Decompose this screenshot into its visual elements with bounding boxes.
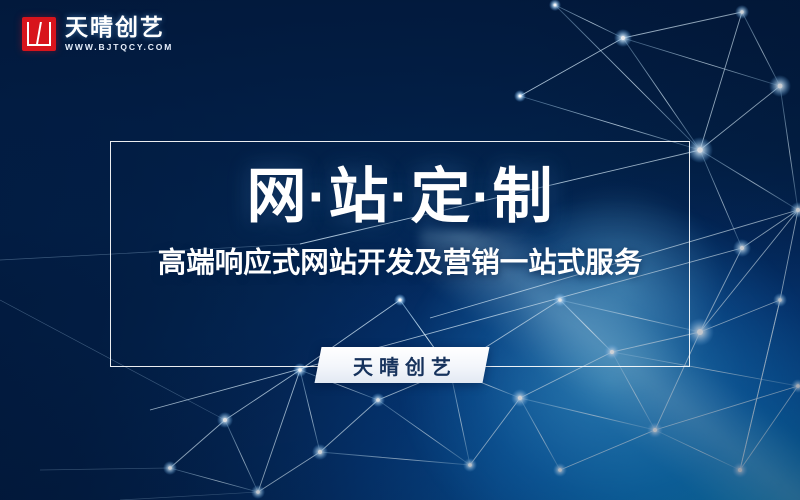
banner-headline: 网·站·定·制 — [247, 167, 554, 227]
brand-badge: 天晴创艺 — [318, 347, 486, 383]
brand-logo[interactable]: 天晴创艺 WWW.BJTQCY.COM — [22, 16, 173, 52]
brand-logo-text: 天晴创艺 WWW.BJTQCY.COM — [65, 16, 173, 52]
brand-name: 天晴创艺 — [65, 16, 173, 39]
brand-url: WWW.BJTQCY.COM — [65, 43, 173, 52]
tqcy-square-logo-icon — [22, 17, 56, 51]
banner-subheadline: 高端响应式网站开发及营销一站式服务 — [158, 249, 643, 278]
brand-badge-label: 天晴创艺 — [318, 347, 486, 383]
banner-content: 网·站·定·制 高端响应式网站开发及营销一站式服务 — [110, 141, 690, 367]
banner-canvas: 天晴创艺 WWW.BJTQCY.COM 网·站·定·制 高端响应式网站开发及营销… — [0, 0, 800, 500]
